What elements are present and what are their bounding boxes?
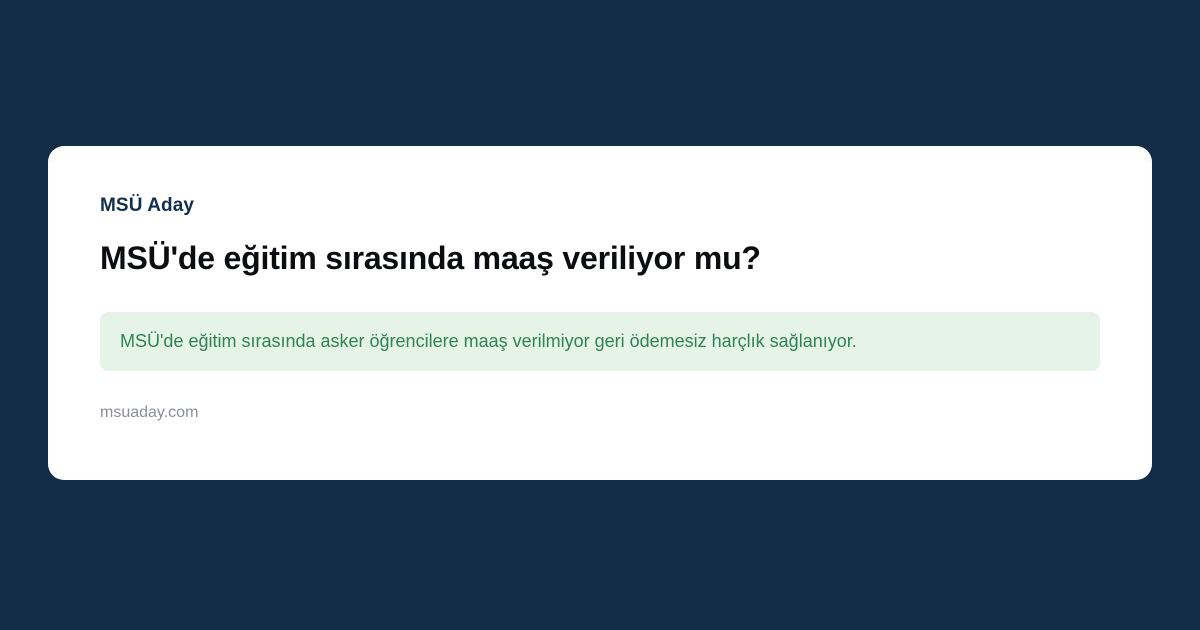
answer-text: MSÜ'de eğitim sırasında asker öğrenciler…	[120, 328, 1080, 354]
page-title: MSÜ'de eğitim sırasında maaş veriliyor m…	[100, 239, 1100, 278]
site-name: MSÜ Aday	[100, 196, 1100, 217]
answer-callout: MSÜ'de eğitim sırasında asker öğrenciler…	[100, 312, 1100, 371]
source-url: msuaday.com	[100, 403, 1100, 422]
share-card: MSÜ Aday MSÜ'de eğitim sırasında maaş ve…	[48, 146, 1152, 480]
share-card-canvas: MSÜ Aday MSÜ'de eğitim sırasında maaş ve…	[0, 0, 1200, 630]
